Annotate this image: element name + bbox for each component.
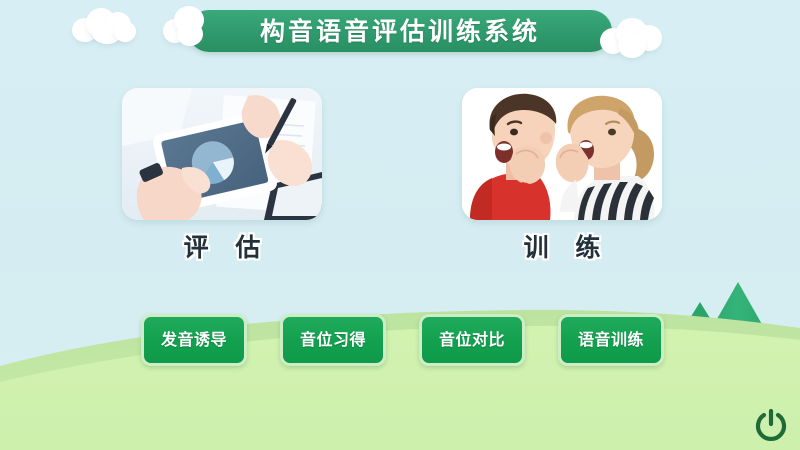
card-label-training: 训 练 xyxy=(462,228,662,264)
card-training[interactable] xyxy=(462,88,662,220)
power-button[interactable] xyxy=(752,406,790,444)
app-root: 构音语音评估训练系统 xyxy=(0,0,800,450)
button-label: 语音训练 xyxy=(578,332,644,348)
button-fayin-youdao[interactable]: 发音诱导 xyxy=(141,314,247,366)
button-yuyin-xunlian[interactable]: 语音训练 xyxy=(558,314,664,366)
button-yinwei-duibi[interactable]: 音位对比 xyxy=(419,314,525,366)
button-label: 音位对比 xyxy=(439,332,505,348)
title-banner: 构音语音评估训练系统 xyxy=(188,10,612,52)
button-label: 发音诱导 xyxy=(161,332,227,348)
card-assessment[interactable] xyxy=(122,88,322,220)
training-photo xyxy=(462,88,662,220)
cloud-icon xyxy=(600,18,666,60)
landscape-hills xyxy=(0,270,800,450)
assessment-photo xyxy=(122,88,322,220)
cloud-icon xyxy=(72,8,138,42)
card-label-assessment: 评 估 xyxy=(122,228,322,264)
button-label: 音位习得 xyxy=(300,332,366,348)
button-yinwei-xide[interactable]: 音位习得 xyxy=(280,314,386,366)
page-title: 构音语音评估训练系统 xyxy=(260,19,540,44)
power-icon xyxy=(752,406,790,444)
cloud-icon xyxy=(163,6,219,46)
